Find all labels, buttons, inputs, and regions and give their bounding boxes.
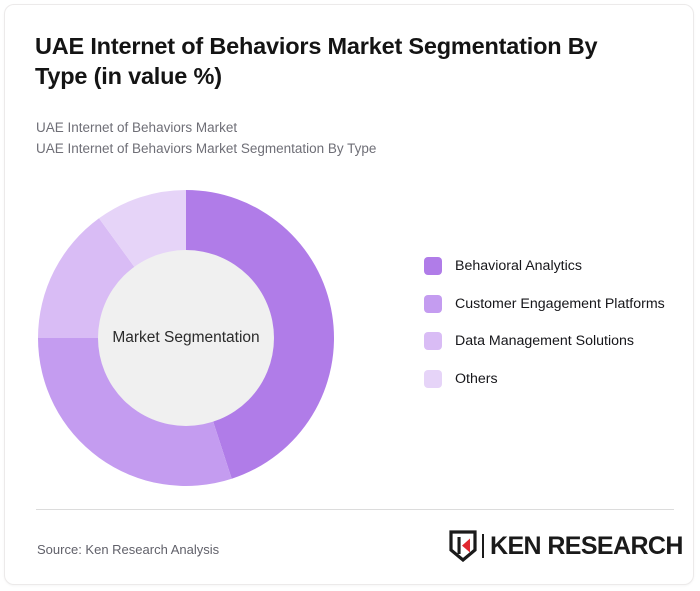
chart-card: UAE Internet of Behaviors Market Segment…: [4, 4, 694, 585]
logo-separator: [482, 534, 484, 558]
page-title: UAE Internet of Behaviors Market Segment…: [35, 31, 655, 91]
source-text: Source: Ken Research Analysis: [37, 542, 219, 557]
logo-wordmark: KEN RESEARCH: [490, 534, 683, 559]
legend-swatch-icon: [424, 257, 442, 275]
legend-swatch-icon: [424, 370, 442, 388]
legend-item[interactable]: Others: [424, 369, 686, 391]
chart-legend: Behavioral AnalyticsCustomer Engagement …: [424, 256, 686, 406]
legend-swatch-icon: [424, 295, 442, 313]
legend-swatch-icon: [424, 332, 442, 350]
legend-item-label: Customer Engagement Platforms: [455, 294, 665, 316]
legend-item-label: Behavioral Analytics: [455, 256, 582, 278]
legend-item-label: Others: [455, 369, 498, 391]
legend-item[interactable]: Behavioral Analytics: [424, 256, 686, 278]
footer-divider: [36, 509, 674, 510]
ken-research-logo-mark-icon: [448, 530, 478, 562]
ken-research-logo: KEN RESEARCH: [448, 528, 683, 564]
subtitle-block: UAE Internet of Behaviors Market UAE Int…: [36, 117, 636, 159]
legend-item[interactable]: Data Management Solutions: [424, 331, 686, 353]
donut-inner-circle: [98, 250, 274, 426]
legend-item[interactable]: Customer Engagement Platforms: [424, 294, 686, 316]
donut-chart: Market Segmentation: [34, 186, 338, 490]
legend-item-label: Data Management Solutions: [455, 331, 634, 353]
donut-chart-svg: [34, 186, 338, 490]
subtitle-segmentation: UAE Internet of Behaviors Market Segment…: [36, 138, 636, 159]
subtitle-market: UAE Internet of Behaviors Market: [36, 117, 636, 138]
